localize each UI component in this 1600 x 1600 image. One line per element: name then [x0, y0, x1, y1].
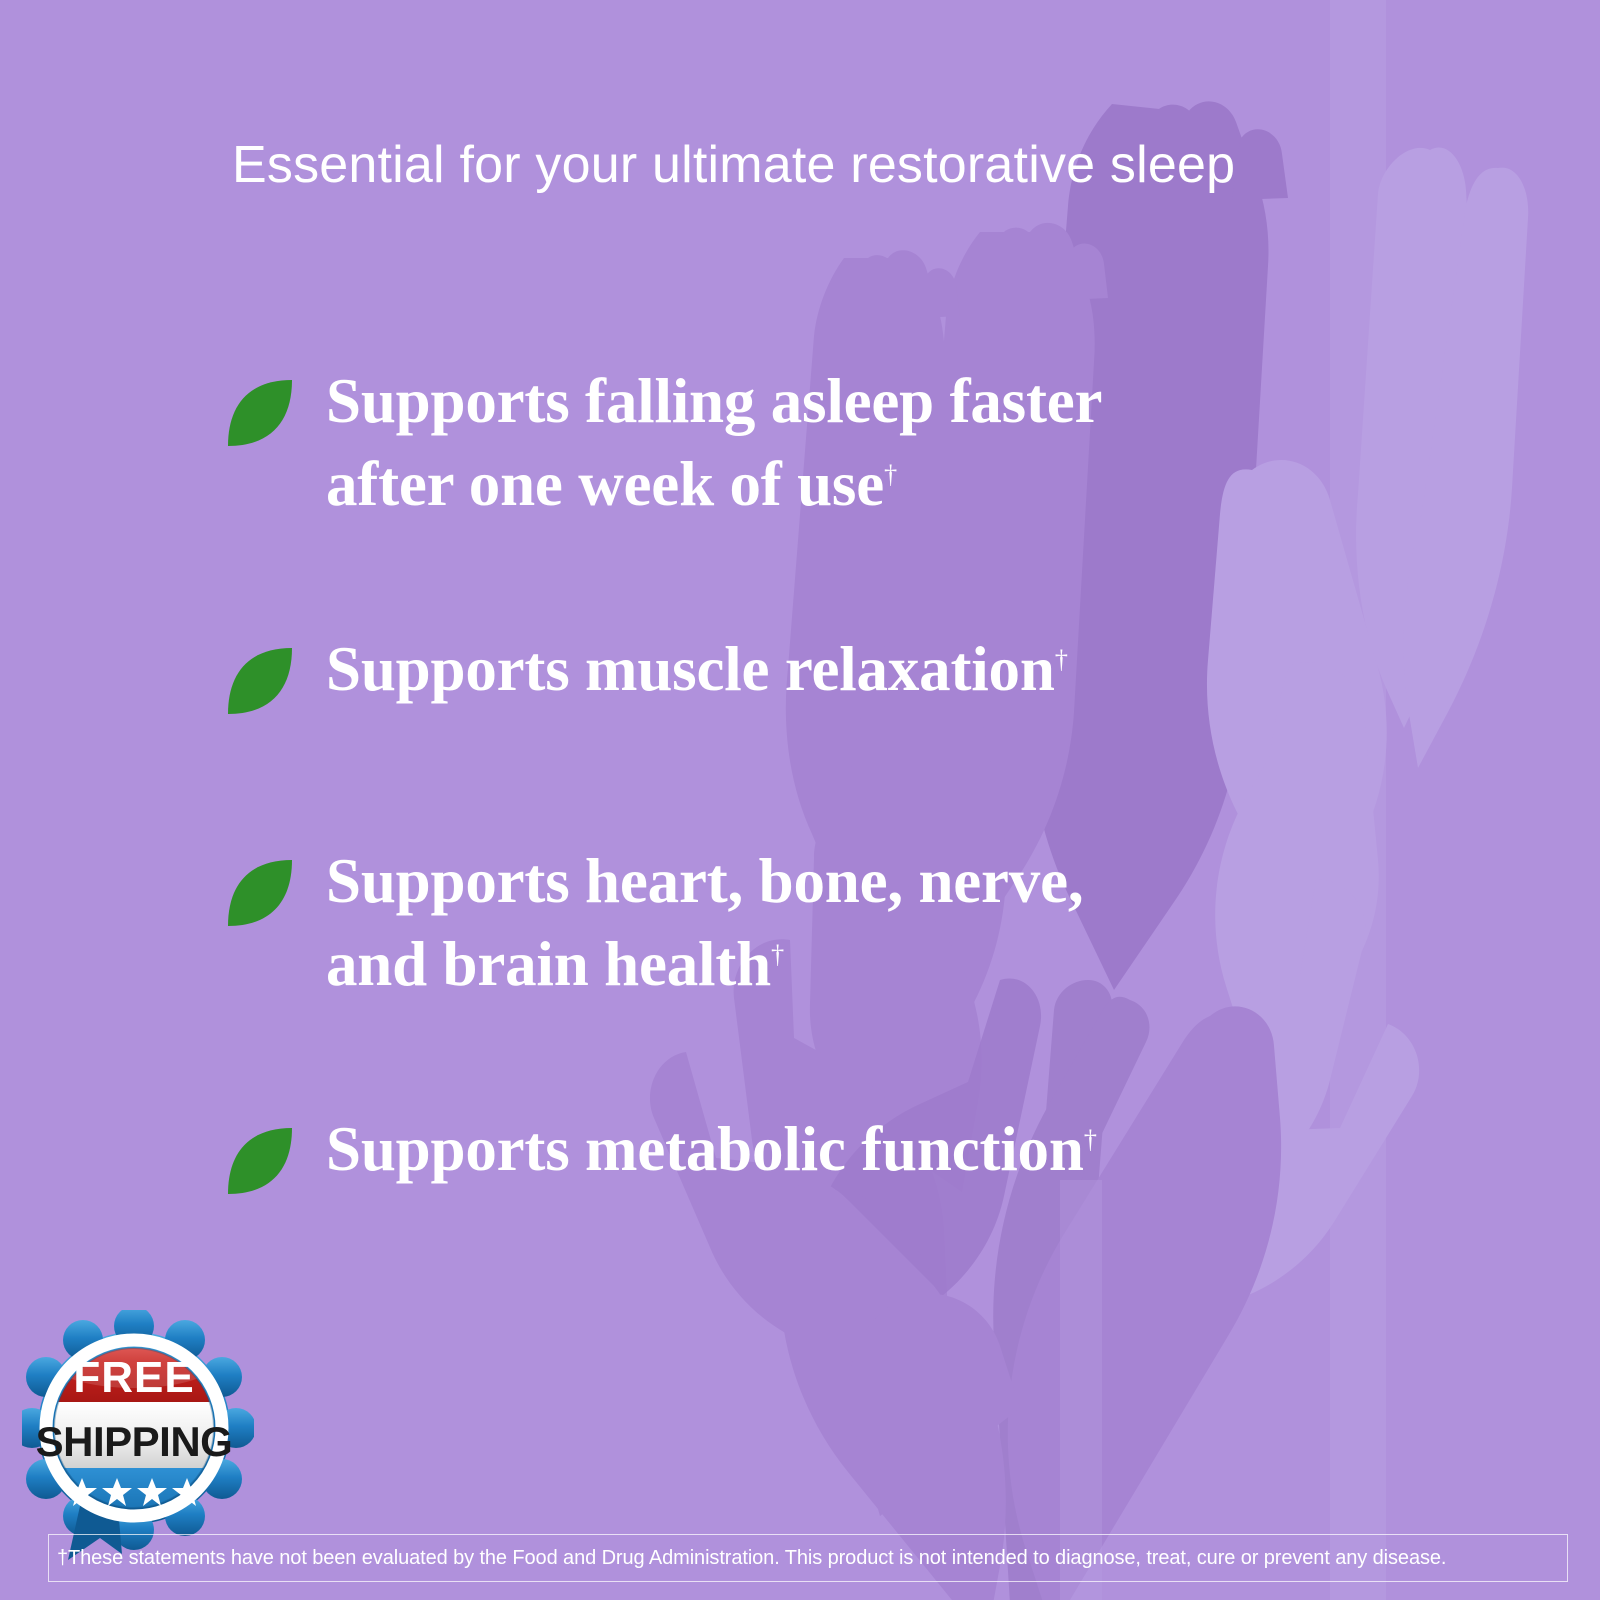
- leaf-icon: [224, 376, 296, 450]
- promo-graphic: Essential for your ultimate restorative …: [0, 0, 1600, 1600]
- list-item-text: Supports heart, bone, nerve, and brain h…: [326, 840, 1083, 1006]
- list-item-text: Supports falling asleep faster after one…: [326, 360, 1102, 526]
- list-item: Supports metabolic function†: [224, 1108, 1404, 1258]
- leaf-icon: [224, 856, 296, 930]
- leaf-icon: [224, 644, 296, 718]
- list-item-line2: and brain health: [326, 929, 771, 999]
- dagger-marker: †: [884, 459, 897, 489]
- dagger-marker: †: [771, 939, 784, 969]
- list-item-line1: Supports metabolic function: [326, 1114, 1084, 1184]
- list-item-line1: Supports muscle relaxation: [326, 634, 1055, 704]
- list-item: Supports falling asleep faster after one…: [224, 360, 1404, 628]
- list-item-text: Supports muscle relaxation†: [326, 628, 1068, 711]
- list-item-line2: after one week of use: [326, 449, 884, 519]
- free-shipping-badge: FREE SHIPPING: [22, 1310, 254, 1560]
- dagger-marker: †: [1084, 1124, 1097, 1154]
- badge-free-label: FREE: [73, 1353, 194, 1402]
- list-item-line1: Supports heart, bone, nerve,: [326, 846, 1083, 916]
- list-item-line1: Supports falling asleep faster: [326, 366, 1102, 436]
- list-item-text: Supports metabolic function†: [326, 1108, 1097, 1191]
- disclaimer-box: †These statements have not been evaluate…: [48, 1534, 1568, 1582]
- badge-shipping-label: SHIPPING: [36, 1418, 233, 1465]
- disclaimer-text: †These statements have not been evaluate…: [57, 1547, 1446, 1570]
- dagger-marker: †: [1055, 644, 1068, 674]
- page-title: Essential for your ultimate restorative …: [232, 136, 1235, 194]
- leaf-icon: [224, 1124, 296, 1198]
- list-item: Supports muscle relaxation†: [224, 628, 1404, 840]
- list-item: Supports heart, bone, nerve, and brain h…: [224, 840, 1404, 1108]
- benefits-list: Supports falling asleep faster after one…: [224, 360, 1404, 1258]
